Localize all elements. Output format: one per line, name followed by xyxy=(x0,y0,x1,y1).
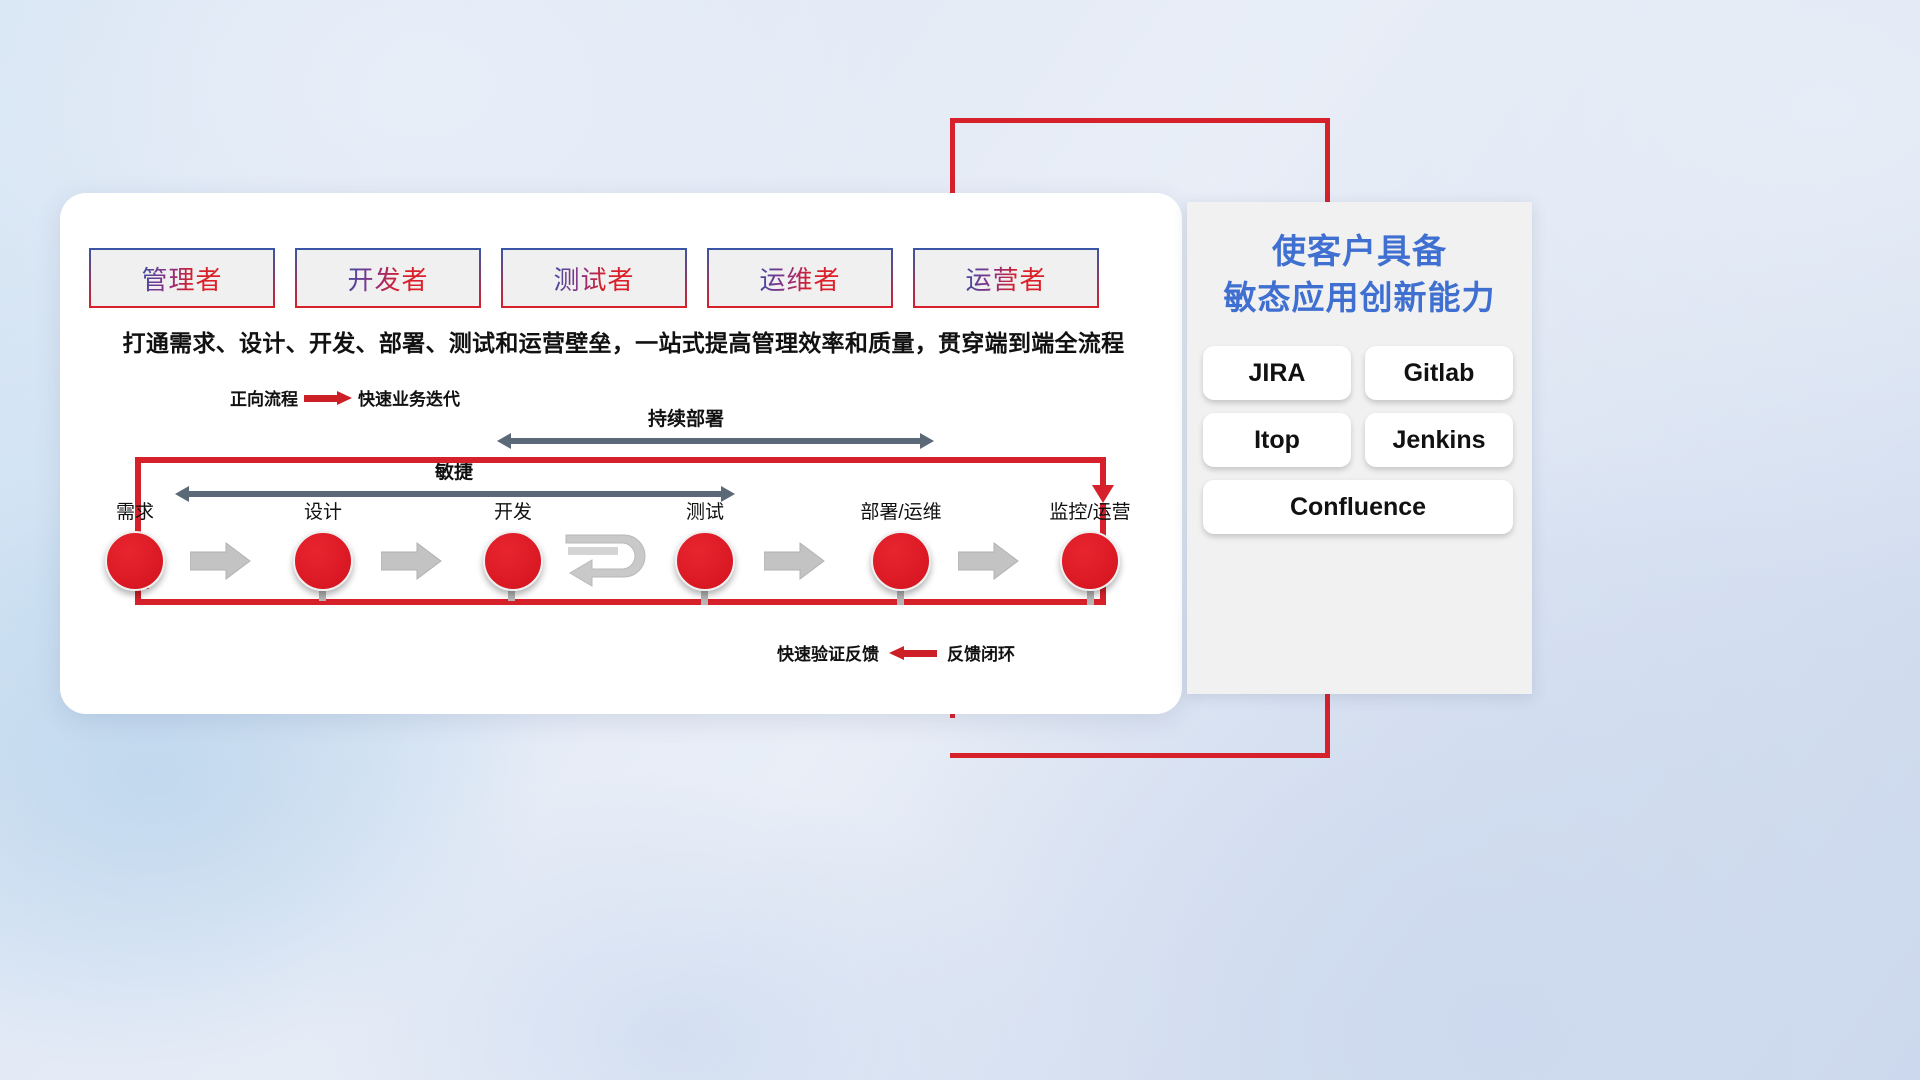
pipeline-stage-test[interactable]: 测试 xyxy=(675,531,735,591)
loop-inner-right-upper xyxy=(1100,457,1106,487)
loop-inner-bottom xyxy=(135,599,1106,605)
stage-dot xyxy=(675,531,735,591)
role-label: 运维者 xyxy=(759,260,840,297)
main-card: 管理者 开发者 测试者 运维者 运营者 xyxy=(60,193,1182,714)
forward-flow-target-label: 快速业务迭代 xyxy=(358,385,460,410)
tool-chip-jenkins[interactable]: Jenkins xyxy=(1365,413,1513,467)
role-border-left xyxy=(913,248,915,308)
role-border-top xyxy=(501,248,687,250)
role-border-left xyxy=(707,248,709,308)
continuous-deploy-double-arrow-icon xyxy=(497,433,934,449)
role-label: 测试者 xyxy=(553,260,634,297)
stage-label: 监控/运营 xyxy=(1049,497,1130,524)
role-border-left xyxy=(295,248,297,308)
arrow-head-right xyxy=(920,433,934,449)
arrow-shaft xyxy=(903,650,937,657)
role-border-right xyxy=(891,248,893,308)
role-border-right xyxy=(479,248,481,308)
card-description: 打通需求、设计、开发、部署、测试和运营壁垒，一站式提高管理效率和质量，贯穿端到端… xyxy=(106,324,1141,358)
role-border-right xyxy=(685,248,687,308)
stage-dot xyxy=(1060,531,1120,591)
flow-arrow-2-icon xyxy=(381,541,443,581)
role-border-right xyxy=(1097,248,1099,308)
role-box-tester[interactable]: 测试者 xyxy=(501,248,687,308)
stage-dot xyxy=(871,531,931,591)
forward-flow-annotation: 正向流程 快速业务迭代 xyxy=(230,385,460,410)
arrow-head xyxy=(337,391,352,405)
arrow-right-red-icon xyxy=(304,391,352,405)
arrow-head-left xyxy=(175,486,189,502)
arrow-shaft xyxy=(510,438,921,444)
pipeline-stage-deploy-ops[interactable]: 部署/运维 xyxy=(871,531,931,591)
pipeline-stage-requirement[interactable]: 需求 xyxy=(105,531,165,591)
role-border-bottom xyxy=(501,306,687,308)
loop-top-segment xyxy=(950,118,1330,123)
stage-label: 测试 xyxy=(686,497,724,524)
flow-arrow-4-icon xyxy=(958,541,1020,581)
role-box-list: 管理者 开发者 测试者 运维者 运营者 xyxy=(89,248,1099,308)
role-border-bottom xyxy=(707,306,893,308)
right-panel-title-line1: 使客户具备 xyxy=(1187,230,1532,276)
arrow-left-red-icon xyxy=(889,646,937,660)
tool-chip-itop[interactable]: Itop xyxy=(1203,413,1351,467)
role-box-ops[interactable]: 运维者 xyxy=(707,248,893,308)
feedback-annotation: 快速验证反馈 反馈闭环 xyxy=(777,640,1015,665)
role-border-right xyxy=(273,248,275,308)
stage-label: 设计 xyxy=(304,497,342,524)
tool-list: JIRA Gitlab Itop Jenkins Confluence xyxy=(1187,346,1532,534)
role-border-bottom xyxy=(913,306,1099,308)
role-border-bottom xyxy=(295,306,481,308)
role-border-top xyxy=(913,248,1099,250)
right-panel: 使客户具备 敏态应用创新能力 JIRA Gitlab Itop Jenkins … xyxy=(1187,202,1532,694)
stage-label: 部署/运维 xyxy=(860,497,941,524)
role-box-operator[interactable]: 运营者 xyxy=(913,248,1099,308)
loop-bottom-segment xyxy=(950,753,1330,758)
stage-dot xyxy=(105,531,165,591)
stage-dot xyxy=(483,531,543,591)
feedback-target-label: 快速验证反馈 xyxy=(777,640,879,665)
arrow-shaft xyxy=(188,491,722,497)
tool-chip-gitlab[interactable]: Gitlab xyxy=(1365,346,1513,400)
arrow-head xyxy=(889,646,904,660)
pipeline-stage-design[interactable]: 设计 xyxy=(293,531,353,591)
right-panel-title: 使客户具备 敏态应用创新能力 xyxy=(1187,230,1532,320)
stage-label: 需求 xyxy=(116,497,154,524)
tool-chip-jira[interactable]: JIRA xyxy=(1203,346,1351,400)
stage-dot xyxy=(293,531,353,591)
right-panel-title-line2: 敏态应用创新能力 xyxy=(1187,276,1532,321)
flow-arrow-1-icon xyxy=(190,541,252,581)
continuous-deploy-label: 持续部署 xyxy=(648,404,724,431)
role-border-left xyxy=(89,248,91,308)
role-border-bottom xyxy=(89,306,275,308)
loop-inner-top xyxy=(135,457,1106,463)
agile-double-arrow-icon xyxy=(175,486,735,502)
role-box-manager[interactable]: 管理者 xyxy=(89,248,275,308)
flow-arrow-iterative-icon xyxy=(562,529,654,591)
role-label: 开发者 xyxy=(347,260,428,297)
role-label: 管理者 xyxy=(141,260,222,297)
role-border-top xyxy=(89,248,275,250)
tool-chip-confluence[interactable]: Confluence xyxy=(1203,480,1513,534)
arrow-shaft xyxy=(304,395,338,402)
role-border-left xyxy=(501,248,503,308)
feedback-source-label: 反馈闭环 xyxy=(947,640,1015,665)
role-border-top xyxy=(707,248,893,250)
pipeline-stage-monitor-operate[interactable]: 监控/运营 xyxy=(1060,531,1120,591)
role-box-developer[interactable]: 开发者 xyxy=(295,248,481,308)
role-label: 运营者 xyxy=(965,260,1046,297)
pipeline-stage-development[interactable]: 开发 xyxy=(483,531,543,591)
arrow-head-left xyxy=(497,433,511,449)
forward-flow-source-label: 正向流程 xyxy=(230,385,298,410)
stage-label: 开发 xyxy=(494,497,532,524)
role-border-top xyxy=(295,248,481,250)
flow-arrow-3-icon xyxy=(764,541,826,581)
